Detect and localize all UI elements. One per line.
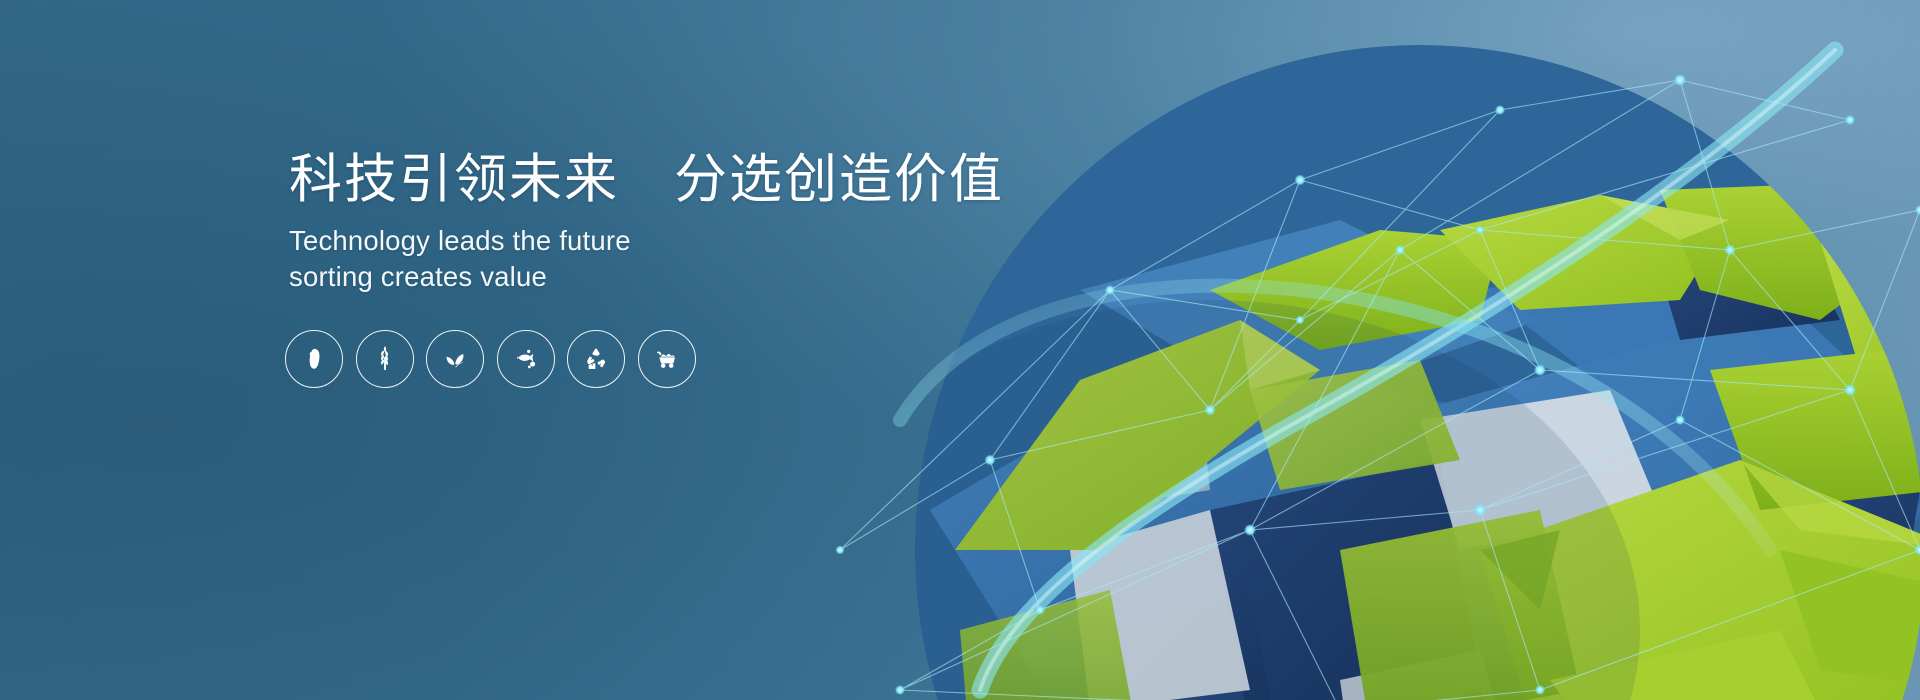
globe-graphic: [780, 0, 1920, 700]
page-title: 科技引领未来 分选创造价值: [289, 150, 1049, 209]
subtitle-line-1: Technology leads the future: [289, 225, 631, 256]
subtitle: Technology leads the future sorting crea…: [289, 223, 1049, 293]
fish-icon[interactable]: [497, 330, 555, 388]
hero-text-block: 科技引领未来 分选创造价值 Technology leads the futur…: [289, 150, 1049, 294]
subtitle-line-2: sorting creates value: [289, 259, 1049, 294]
leaf-icon[interactable]: [426, 330, 484, 388]
industry-icon-row: [285, 330, 696, 388]
hero-banner: 科技引领未来 分选创造价值 Technology leads the futur…: [0, 0, 1920, 700]
recycle-icon[interactable]: [567, 330, 625, 388]
seed-icon[interactable]: [285, 330, 343, 388]
ore-cart-icon[interactable]: [638, 330, 696, 388]
wheat-icon[interactable]: [356, 330, 414, 388]
globe-sphere: [780, 45, 1920, 700]
